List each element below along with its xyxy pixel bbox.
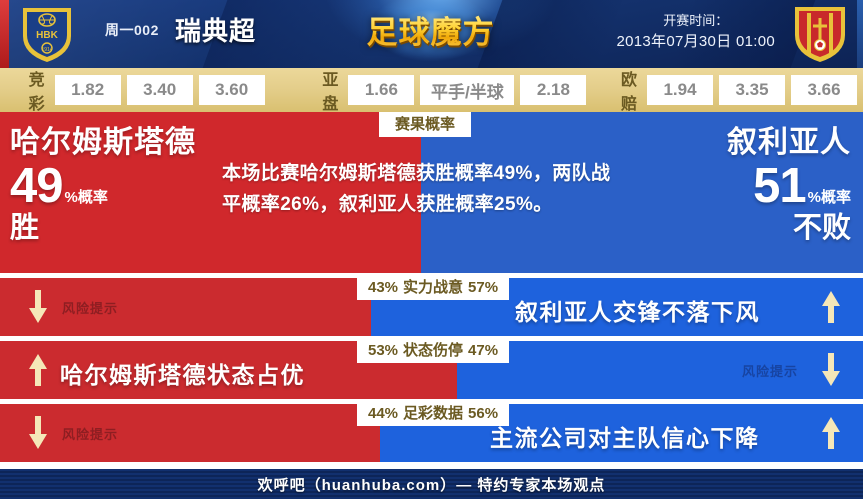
odds-cell-jingcai-draw[interactable]: 3.40 bbox=[127, 75, 193, 105]
stat-form-home-verdict: 哈尔姆斯塔德状态占优 bbox=[60, 356, 305, 390]
brand-logo: 足球魔方 bbox=[358, 6, 503, 62]
probability-summary: 本场比赛哈尔姆斯塔德获胜概率49%，两队战平概率26%，叙利亚人获胜概率25%。 bbox=[222, 158, 622, 220]
stat-strength-name: 实力战意 bbox=[403, 279, 463, 296]
stat-betting-away-verdict: 主流公司对主队信心下降 bbox=[490, 419, 760, 453]
halmstad-crest-icon: HBK 1914 bbox=[18, 4, 76, 64]
home-prob-outcome: 胜 bbox=[10, 212, 196, 244]
kickoff-time: 2013年07月30日 01:00 bbox=[616, 31, 775, 54]
stat-form-right-pct: 47% bbox=[468, 342, 498, 359]
arrow-up-icon bbox=[819, 416, 843, 450]
stat-betting-name: 足彩数据 bbox=[403, 405, 463, 422]
stat-betting-home-risk-label: 风险提示 bbox=[62, 424, 118, 443]
stat-strength-home-risk-label: 风险提示 bbox=[62, 298, 118, 317]
header-left-edge bbox=[0, 0, 9, 68]
odds-cell-yapan-handicap[interactable]: 平手/半球 bbox=[420, 75, 514, 105]
league-name: 瑞典超 bbox=[175, 11, 256, 48]
stat-strength-left-pct: 43% bbox=[368, 279, 398, 296]
probability-badge-label: 赛果概率 bbox=[395, 116, 455, 133]
away-team-name: 叙利亚人 bbox=[727, 126, 851, 160]
match-preview-infographic: HBK 1914 周一002 瑞典超 足球魔方 开赛时间： 2013年07月30… bbox=[0, 0, 863, 499]
svg-text:1914: 1914 bbox=[41, 47, 52, 53]
odds-group-oupei: 欧赔 1.94 3.35 3.66 bbox=[612, 66, 863, 114]
stat-strength-badge: 43%实力战意57% bbox=[357, 275, 509, 300]
stat-strength-right-pct: 57% bbox=[468, 279, 498, 296]
away-prob-unit: %概率 bbox=[808, 189, 851, 206]
home-team-probability: 49%概率 bbox=[10, 162, 196, 211]
home-team-block: 哈尔姆斯塔德 49%概率 胜 bbox=[10, 126, 196, 244]
arrow-down-icon bbox=[26, 290, 50, 324]
probability-badge: 赛果概率 bbox=[379, 112, 471, 137]
home-prob-unit: %概率 bbox=[65, 189, 108, 206]
footer-text: 欢呼吧（huanhuba.com）— 特约专家本场观点 bbox=[258, 474, 606, 495]
odds-label-oupei: 欧赔 bbox=[621, 66, 638, 114]
odds-cell-oupei-away[interactable]: 3.66 bbox=[791, 75, 857, 105]
away-prob-value: 51 bbox=[753, 159, 806, 213]
away-prob-outcome: 不败 bbox=[727, 212, 851, 244]
brand-text: 足球魔方 bbox=[358, 6, 503, 60]
stat-form-badge: 53%状态伤停47% bbox=[357, 338, 509, 363]
stat-strength-home-fill: 风险提示 bbox=[0, 278, 371, 336]
analysis-board: 赛果概率 哈尔姆斯塔德 49%概率 胜 叙利亚人 51%概率 不败 本场比赛哈尔… bbox=[0, 112, 863, 467]
syrianska-crest-icon bbox=[791, 4, 849, 64]
arrow-down-icon bbox=[819, 353, 843, 387]
odds-group-yapan: 亚盘 1.66 平手/半球 2.18 bbox=[313, 66, 592, 114]
odds-cell-oupei-draw[interactable]: 3.35 bbox=[719, 75, 785, 105]
svg-text:HBK: HBK bbox=[36, 30, 58, 41]
stat-form-name: 状态伤停 bbox=[403, 342, 463, 359]
stat-betting-right-pct: 56% bbox=[468, 405, 498, 422]
odds-bar: 竞彩 1.82 3.40 3.60 亚盘 1.66 平手/半球 2.18 欧赔 … bbox=[0, 68, 863, 112]
away-team-block: 叙利亚人 51%概率 不败 bbox=[727, 126, 851, 244]
odds-cell-yapan-away[interactable]: 2.18 bbox=[520, 75, 586, 105]
home-team-name: 哈尔姆斯塔德 bbox=[10, 126, 196, 160]
header-right-edge bbox=[857, 0, 863, 68]
arrow-down-icon bbox=[26, 416, 50, 450]
stat-betting-left-pct: 44% bbox=[368, 405, 398, 422]
odds-label-yapan: 亚盘 bbox=[322, 66, 339, 114]
odds-cell-yapan-home[interactable]: 1.66 bbox=[348, 75, 414, 105]
odds-label-jingcai: 竞彩 bbox=[29, 66, 46, 114]
header-bar: HBK 1914 周一002 瑞典超 足球魔方 开赛时间： 2013年07月30… bbox=[0, 0, 863, 68]
stat-betting-home-fill: 风险提示 bbox=[0, 404, 380, 462]
odds-cell-jingcai-home[interactable]: 1.82 bbox=[55, 75, 121, 105]
away-team-probability: 51%概率 bbox=[727, 162, 851, 211]
kickoff-block: 开赛时间： 2013年07月30日 01:00 bbox=[616, 11, 775, 53]
stat-form-away-risk-label: 风险提示 bbox=[742, 361, 798, 380]
stat-form-left-pct: 53% bbox=[368, 342, 398, 359]
arrow-up-icon bbox=[26, 353, 50, 387]
odds-group-jingcai: 竞彩 1.82 3.40 3.60 bbox=[20, 66, 271, 114]
footer-bar: 欢呼吧（huanhuba.com）— 特约专家本场观点 bbox=[0, 469, 863, 499]
match-number: 周一002 bbox=[105, 20, 159, 40]
stat-form-away-fill: 风险提示 bbox=[457, 341, 863, 399]
odds-cell-jingcai-away[interactable]: 3.60 bbox=[199, 75, 265, 105]
kickoff-label: 开赛时间： bbox=[616, 11, 775, 31]
arrow-up-icon bbox=[819, 290, 843, 324]
stat-betting-badge: 44%足彩数据56% bbox=[357, 401, 509, 426]
stat-strength-away-verdict: 叙利亚人交锋不落下风 bbox=[515, 293, 760, 327]
home-prob-value: 49 bbox=[10, 159, 63, 213]
odds-cell-oupei-home[interactable]: 1.94 bbox=[647, 75, 713, 105]
